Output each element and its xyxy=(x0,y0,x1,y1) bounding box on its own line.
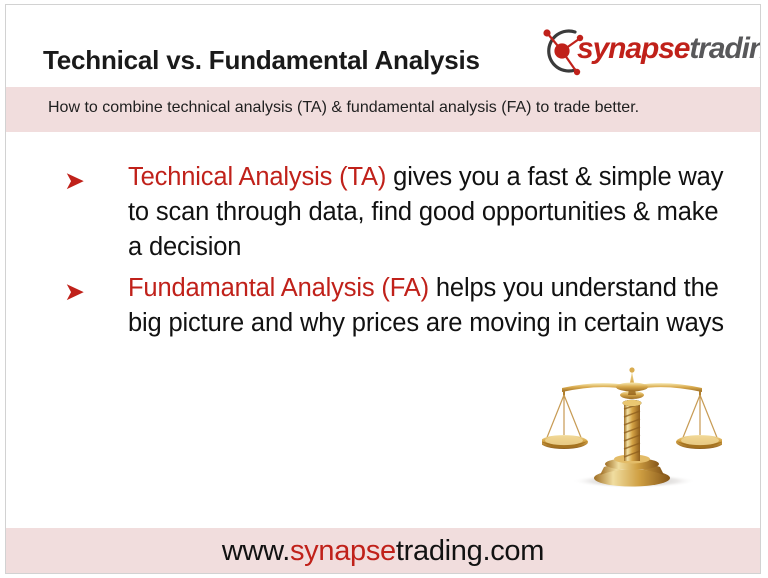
arrow-bullet-icon: ➤ xyxy=(64,275,98,309)
footer-url-brand: synapse xyxy=(290,535,396,567)
list-item-text: Fundamantal Analysis (FA) helps you unde… xyxy=(128,271,724,341)
footer-url-prefix: www. xyxy=(222,535,290,567)
brand-wordmark: synapsetrading xyxy=(577,32,761,66)
brand-logo[interactable]: synapsetrading xyxy=(535,23,740,79)
bullet-list: ➤ Technical Analysis (TA) gives you a fa… xyxy=(64,160,724,347)
list-item: ➤ Technical Analysis (TA) gives you a fa… xyxy=(64,160,724,265)
list-item-lead: Technical Analysis (TA) xyxy=(128,163,386,191)
list-item: ➤ Fundamantal Analysis (FA) helps you un… xyxy=(64,271,724,341)
arrow-bullet-icon: ➤ xyxy=(64,164,98,198)
list-item-text: Technical Analysis (TA) gives you a fast… xyxy=(128,160,724,265)
brand-word-trading: trading xyxy=(689,32,761,65)
balance-scales-image xyxy=(542,363,722,495)
list-item-lead: Fundamantal Analysis (FA) xyxy=(128,274,429,302)
subtitle-band: How to combine technical analysis (TA) &… xyxy=(6,87,760,132)
footer-url-suffix: trading.com xyxy=(396,535,544,567)
brand-word-synapse: synapse xyxy=(577,32,689,65)
page-title: Technical vs. Fundamental Analysis xyxy=(43,45,480,76)
footer-band: www.synapsetrading.com xyxy=(6,528,760,573)
footer-website-url[interactable]: www.synapsetrading.com xyxy=(6,535,760,568)
presentation-slide: Technical vs. Fundamental Analysis synap… xyxy=(5,4,761,574)
slide-subtitle: How to combine technical analysis (TA) &… xyxy=(48,99,639,117)
